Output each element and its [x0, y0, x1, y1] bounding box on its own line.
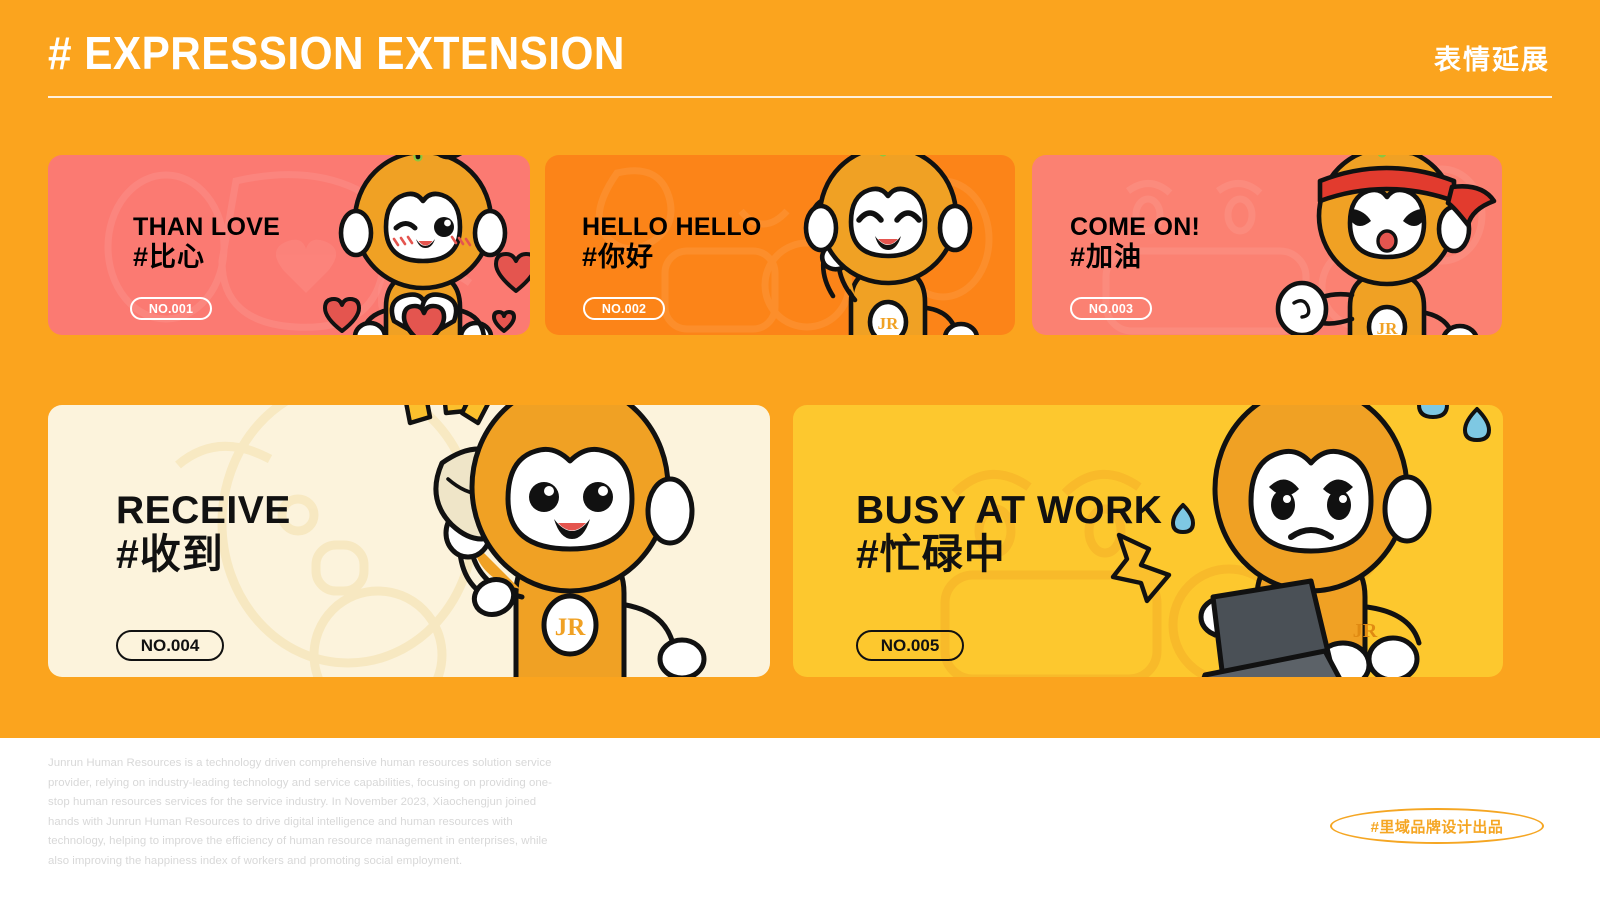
card-002-number-badge: NO.002	[583, 297, 665, 320]
card-004-text: RECEIVE #收到	[116, 491, 291, 578]
poster-page: # EXPRESSION EXTENSION 表情延展 THAN LOVE	[0, 0, 1600, 900]
card-003-number-badge: NO.003	[1070, 297, 1152, 320]
expression-card-002[interactable]: HELLO HELLO #你好	[545, 155, 1015, 335]
card-005-title-cn: #忙碌中	[856, 532, 1162, 578]
card-001-number-badge: NO.001	[130, 297, 212, 320]
brand-stamp: #里域品牌设计出品	[1330, 808, 1544, 844]
card-002-title-en: HELLO HELLO	[582, 215, 762, 240]
svg-text:JR: JR	[1377, 319, 1399, 335]
mascot-headband-fist: JR	[1254, 155, 1502, 335]
card-005-text: BUSY AT WORK #忙碌中	[856, 491, 1162, 578]
card-001-title-en: THAN LOVE	[133, 215, 280, 240]
card-003-title-cn: #加油	[1070, 242, 1200, 272]
card-004-title-en: RECEIVE	[116, 491, 291, 530]
card-003-text: COME ON! #加油	[1070, 215, 1200, 272]
mascot-waving-smile: JR	[763, 155, 1013, 335]
card-004-number-badge: NO.004	[116, 630, 224, 661]
expression-card-grid: THAN LOVE #比心	[0, 0, 1600, 738]
svg-text:JR: JR	[555, 614, 587, 641]
mascot-wink-heart-hands	[298, 155, 530, 335]
card-003-title-en: COME ON!	[1070, 215, 1200, 240]
expression-card-003[interactable]: COME ON! #加油	[1032, 155, 1502, 335]
expression-card-001[interactable]: THAN LOVE #比心	[48, 155, 530, 335]
svg-text:JR: JR	[1353, 620, 1378, 642]
card-001-text: THAN LOVE #比心	[133, 215, 280, 272]
card-004-title-cn: #收到	[116, 532, 291, 578]
footer-description: Junrun Human Resources is a technology d…	[48, 754, 568, 872]
card-005-number-badge: NO.005	[856, 630, 964, 661]
svg-text:JR: JR	[878, 314, 900, 333]
card-005-title-en: BUSY AT WORK	[856, 491, 1162, 530]
expression-card-004[interactable]: RECEIVE #收到	[48, 405, 770, 677]
card-002-text: HELLO HELLO #你好	[582, 215, 762, 272]
mascot-salute-envelope: JR	[344, 405, 744, 677]
expression-card-005[interactable]: BUSY AT WORK #忙碌中	[793, 405, 1503, 677]
card-002-title-cn: #你好	[582, 242, 762, 272]
background-pattern	[48, 155, 530, 335]
brand-stamp-label: #里域品牌设计出品	[1371, 816, 1504, 837]
card-001-title-cn: #比心	[133, 242, 280, 272]
page-footer: Junrun Human Resources is a technology d…	[0, 738, 1600, 900]
